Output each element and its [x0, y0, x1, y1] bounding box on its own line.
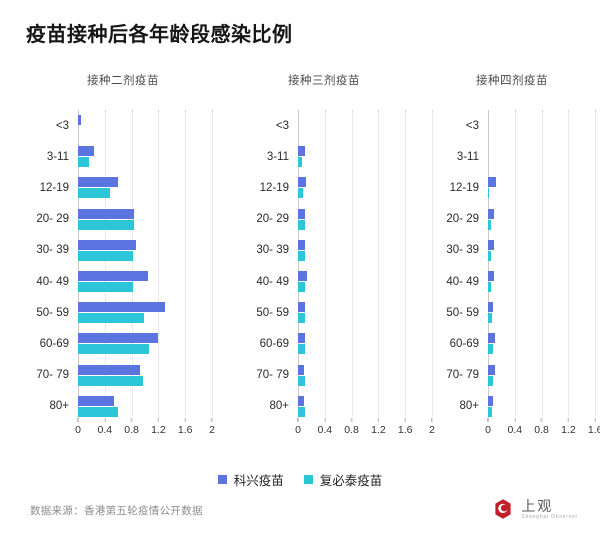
plot-area: <33-1112-1920- 2930- 3940- 4950- 5960-69… [488, 110, 600, 422]
bar-comirnaty [78, 344, 149, 354]
category-label: 60-69 [450, 338, 479, 350]
category-label: 12-19 [260, 182, 289, 194]
bar-row: 12-19 [488, 172, 600, 203]
bar-sinovac [488, 209, 494, 219]
legend-swatch-icon [218, 475, 227, 484]
bar-comirnaty [298, 157, 302, 167]
tick-mark [351, 418, 352, 422]
bar-sinovac [488, 240, 494, 250]
tick-mark [378, 418, 379, 422]
logo-text-en: Shanghai Observer [521, 515, 578, 520]
tick-mark [595, 418, 596, 422]
bar-row: 30- 39 [298, 235, 432, 266]
panel-four-doses: 接种四剂疫苗 <33-1112-1920- 2930- 3940- 4950- … [414, 72, 600, 447]
x-tick-label: 0 [75, 422, 81, 436]
bar-comirnaty [78, 282, 133, 292]
bar-row: <3 [298, 110, 432, 141]
bar-comirnaty [488, 220, 491, 230]
chart-panels: 接种二剂疫苗 <33-1112-1920- 2930- 3940- 4950- … [0, 72, 600, 447]
bar-row: 60-69 [488, 328, 600, 359]
bar-row: 60-69 [78, 328, 212, 359]
panel-three-doses: 接种三剂疫苗 <33-1112-1920- 2930- 3940- 4950- … [228, 72, 414, 447]
bar-comirnaty [78, 157, 89, 167]
category-label: 50- 59 [446, 307, 479, 319]
bar-comirnaty [298, 251, 305, 261]
bar-sinovac [78, 115, 81, 125]
data-source-note: 数据来源：香港第五轮疫情公开数据 [30, 503, 203, 518]
category-label: 30- 39 [256, 244, 289, 256]
bar-row: 40- 49 [488, 266, 600, 297]
category-label: 50- 59 [36, 307, 69, 319]
bar-row: 70- 79 [78, 360, 212, 391]
bar-sinovac [298, 365, 304, 375]
bar-sinovac [488, 302, 493, 312]
legend-swatch-icon [304, 475, 313, 484]
bar-row: 50- 59 [488, 297, 600, 328]
tick-mark [298, 418, 299, 422]
category-label: 3-11 [267, 151, 289, 163]
category-label: <3 [56, 120, 69, 132]
bar-sinovac [78, 240, 136, 250]
bar-row: <3 [78, 110, 212, 141]
bar-sinovac [78, 396, 114, 406]
bar-sinovac [298, 396, 304, 406]
panel-two-doses: 接种二剂疫苗 <33-1112-1920- 2930- 3940- 4950- … [0, 72, 228, 447]
bar-comirnaty [488, 344, 493, 354]
bar-row: 12-19 [298, 172, 432, 203]
x-axis: 00.40.81.21.62 [298, 422, 432, 444]
bar-sinovac [78, 365, 140, 375]
bar-row: 40- 49 [78, 266, 212, 297]
bar-comirnaty [488, 282, 491, 292]
bar-sinovac [78, 146, 94, 156]
plot-area: <33-1112-1920- 2930- 3940- 4950- 5960-69… [78, 110, 212, 422]
bar-sinovac [298, 209, 305, 219]
page-title: 疫苗接种后各年龄段感染比例 [26, 18, 293, 47]
bar-comirnaty [78, 376, 143, 386]
bar-row: 80+ [298, 391, 432, 422]
x-axis: 00.40.81.21.62 [488, 422, 600, 444]
bar-row: 50- 59 [78, 297, 212, 328]
category-label: 30- 39 [36, 244, 69, 256]
bar-row: 80+ [488, 391, 600, 422]
category-label: 70- 79 [256, 369, 289, 381]
bar-comirnaty [298, 313, 305, 323]
chart-legend: 科兴疫苗复必泰疫苗 [0, 470, 600, 489]
category-label: 60-69 [40, 338, 69, 350]
bar-comirnaty [78, 407, 118, 417]
category-label: <3 [276, 120, 289, 132]
x-axis: 00.40.81.21.62 [78, 422, 212, 444]
x-tick-label: 0.4 [507, 422, 522, 436]
bar-sinovac [298, 240, 305, 250]
bar-row: 12-19 [78, 172, 212, 203]
bar-comirnaty [298, 188, 303, 198]
bar-row: 3-11 [488, 141, 600, 172]
category-label: 20- 29 [446, 213, 479, 225]
bar-sinovac [78, 333, 158, 343]
bar-sinovac [78, 302, 165, 312]
bar-rows: <33-1112-1920- 2930- 3940- 4950- 5960-69… [488, 110, 600, 422]
tick-mark [514, 418, 515, 422]
category-label: 12-19 [450, 182, 479, 194]
bar-rows: <33-1112-1920- 2930- 3940- 4950- 5960-69… [298, 110, 432, 422]
bar-sinovac [298, 177, 306, 187]
category-label: 40- 49 [36, 276, 69, 288]
bar-sinovac [298, 271, 307, 281]
bar-row: 20- 29 [488, 204, 600, 235]
bar-rows: <33-1112-1920- 2930- 3940- 4950- 5960-69… [78, 110, 212, 422]
shanghai-observer-mark-icon [492, 498, 514, 520]
bar-sinovac [488, 333, 495, 343]
x-tick-label: 0.4 [97, 422, 112, 436]
category-label: 20- 29 [256, 213, 289, 225]
x-tick-label: 0 [295, 422, 301, 436]
bar-comirnaty [488, 313, 492, 323]
bar-comirnaty [298, 344, 305, 354]
category-label: 20- 29 [36, 213, 69, 225]
bar-row: 60-69 [298, 328, 432, 359]
bar-comirnaty [298, 407, 305, 417]
tick-mark [324, 418, 325, 422]
x-tick-label: 1.2 [151, 422, 166, 436]
bar-comirnaty [78, 220, 134, 230]
bar-row: 70- 79 [298, 360, 432, 391]
bar-comirnaty [488, 376, 493, 386]
bar-row: 50- 59 [298, 297, 432, 328]
x-tick-label: 1.6 [178, 422, 193, 436]
bar-sinovac [488, 396, 493, 406]
category-label: 40- 49 [256, 276, 289, 288]
chart-page: 疫苗接种后各年龄段感染比例 接种二剂疫苗 <33-1112-1920- 2930… [0, 0, 600, 542]
x-tick-label: 2 [209, 422, 215, 436]
bar-row: 30- 39 [78, 235, 212, 266]
category-label: 80+ [459, 400, 479, 412]
bar-comirnaty [78, 188, 110, 198]
legend-item[interactable]: 科兴疫苗 [218, 470, 284, 489]
category-label: 12-19 [40, 182, 69, 194]
category-label: 80+ [49, 400, 69, 412]
category-label: 3-11 [47, 151, 69, 163]
legend-label: 科兴疫苗 [234, 470, 284, 489]
tick-mark [212, 418, 213, 422]
x-tick-label: 0.8 [344, 422, 359, 436]
bar-row: 80+ [78, 391, 212, 422]
panel-title: 接种三剂疫苗 [228, 72, 414, 88]
tick-mark [131, 418, 132, 422]
category-label: 70- 79 [36, 369, 69, 381]
bar-sinovac [78, 271, 148, 281]
bar-comirnaty [78, 313, 144, 323]
bar-row: 40- 49 [298, 266, 432, 297]
bar-sinovac [488, 271, 494, 281]
tick-mark [78, 418, 79, 422]
bar-sinovac [298, 302, 305, 312]
bar-comirnaty [488, 188, 489, 198]
tick-mark [488, 418, 489, 422]
category-label: 70- 79 [446, 369, 479, 381]
tick-mark [405, 418, 406, 422]
tick-mark [568, 418, 569, 422]
bar-comirnaty [298, 376, 305, 386]
bar-row: 20- 29 [78, 204, 212, 235]
x-tick-label: 1.2 [561, 422, 576, 436]
bar-row: 30- 39 [488, 235, 600, 266]
bar-sinovac [488, 177, 496, 187]
bar-comirnaty [488, 251, 491, 261]
logo-text-cn: 上观 [521, 499, 578, 513]
bar-comirnaty [298, 282, 305, 292]
category-label: 50- 59 [256, 307, 289, 319]
x-tick-label: 1.6 [398, 422, 413, 436]
bar-comirnaty [78, 251, 133, 261]
category-label: 30- 39 [446, 244, 479, 256]
plot-area: <33-1112-1920- 2930- 3940- 4950- 5960-69… [298, 110, 432, 422]
bar-row: 20- 29 [298, 204, 432, 235]
tick-mark [104, 418, 105, 422]
tick-mark [185, 418, 186, 422]
category-label: 3-11 [457, 151, 479, 163]
gridline [212, 110, 214, 422]
x-tick-label: 0.4 [317, 422, 332, 436]
category-label: 40- 49 [446, 276, 479, 288]
category-label: <3 [466, 120, 479, 132]
panel-title: 接种二剂疫苗 [0, 72, 228, 88]
bar-sinovac [298, 146, 305, 156]
bar-row: 3-11 [78, 141, 212, 172]
bar-comirnaty [298, 220, 305, 230]
legend-label: 复必泰疫苗 [320, 470, 383, 489]
brand-logo: 上观 Shanghai Observer [492, 498, 578, 520]
bar-row: 70- 79 [488, 360, 600, 391]
tick-mark [541, 418, 542, 422]
logo-wordmark: 上观 Shanghai Observer [521, 499, 578, 520]
legend-item[interactable]: 复必泰疫苗 [304, 470, 383, 489]
bar-sinovac [78, 177, 118, 187]
x-tick-label: 0.8 [534, 422, 549, 436]
bar-row: 3-11 [298, 141, 432, 172]
category-label: 80+ [269, 400, 289, 412]
x-tick-label: 1.2 [371, 422, 386, 436]
bar-sinovac [298, 333, 305, 343]
category-label: 60-69 [260, 338, 289, 350]
x-tick-label: 1.6 [588, 422, 600, 436]
bar-sinovac [488, 365, 495, 375]
bar-row: <3 [488, 110, 600, 141]
bar-comirnaty [488, 407, 492, 417]
tick-mark [158, 418, 159, 422]
bar-sinovac [78, 209, 134, 219]
panel-title: 接种四剂疫苗 [414, 72, 600, 88]
x-tick-label: 0.8 [124, 422, 139, 436]
x-tick-label: 0 [485, 422, 491, 436]
